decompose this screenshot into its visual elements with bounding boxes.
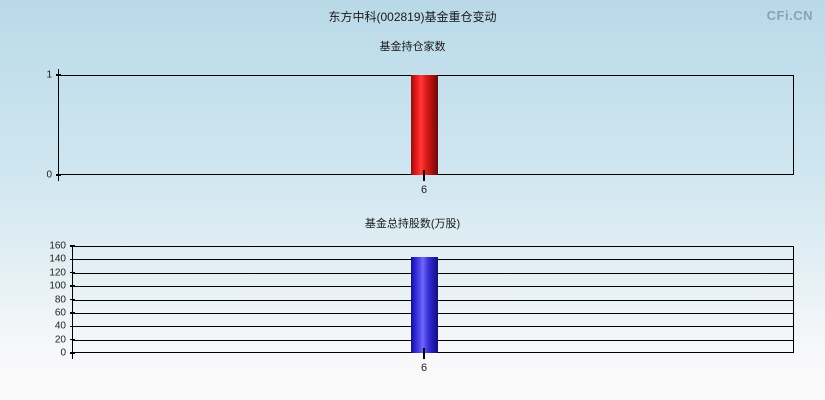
x-tick-label: 6 bbox=[421, 362, 427, 374]
y-tick-label: 0 bbox=[16, 170, 52, 181]
y-tick-label: 0 bbox=[30, 348, 66, 359]
chart1-title: 基金持仓家数 bbox=[0, 38, 825, 54]
y-tick-label: 100 bbox=[30, 281, 66, 292]
y-tick-mark bbox=[56, 74, 61, 75]
y-tick-mark bbox=[56, 174, 61, 175]
chart2-title: 基金总持股数(万股) bbox=[0, 215, 825, 231]
y-tick-label: 120 bbox=[30, 267, 66, 278]
y-tick-label: 80 bbox=[30, 294, 66, 305]
chart2-y-axis bbox=[72, 246, 73, 359]
y-tick-label: 140 bbox=[30, 254, 66, 265]
chart-canvas: 东方中科(002819)基金重仓变动 CFi.CN 基金持仓家数 基金总持股数(… bbox=[0, 0, 825, 400]
x-tick-mark bbox=[423, 170, 424, 181]
chart1-right-axis bbox=[793, 75, 794, 175]
y-tick-label: 20 bbox=[30, 334, 66, 345]
chart-fund-holders-count bbox=[58, 75, 794, 175]
y-tick-mark bbox=[70, 272, 75, 273]
y-tick-mark bbox=[70, 312, 75, 313]
y-tick-mark bbox=[70, 352, 75, 353]
bar bbox=[411, 75, 438, 175]
y-tick-mark bbox=[70, 259, 75, 260]
y-tick-mark bbox=[70, 285, 75, 286]
y-tick-mark bbox=[70, 299, 75, 300]
bar bbox=[411, 257, 438, 353]
watermark-label: CFi.CN bbox=[767, 8, 813, 23]
y-tick-mark bbox=[70, 339, 75, 340]
chart1-y-axis bbox=[58, 69, 59, 181]
x-tick-label: 6 bbox=[421, 184, 427, 196]
y-tick-mark bbox=[70, 245, 75, 246]
page-title: 东方中科(002819)基金重仓变动 bbox=[0, 8, 825, 25]
y-tick-label: 160 bbox=[30, 241, 66, 252]
y-tick-label: 1 bbox=[16, 70, 52, 81]
chart-fund-total-shares bbox=[72, 246, 794, 353]
y-tick-label: 40 bbox=[30, 321, 66, 332]
x-tick-mark bbox=[423, 348, 424, 359]
y-tick-label: 60 bbox=[30, 307, 66, 318]
y-tick-mark bbox=[70, 326, 75, 327]
